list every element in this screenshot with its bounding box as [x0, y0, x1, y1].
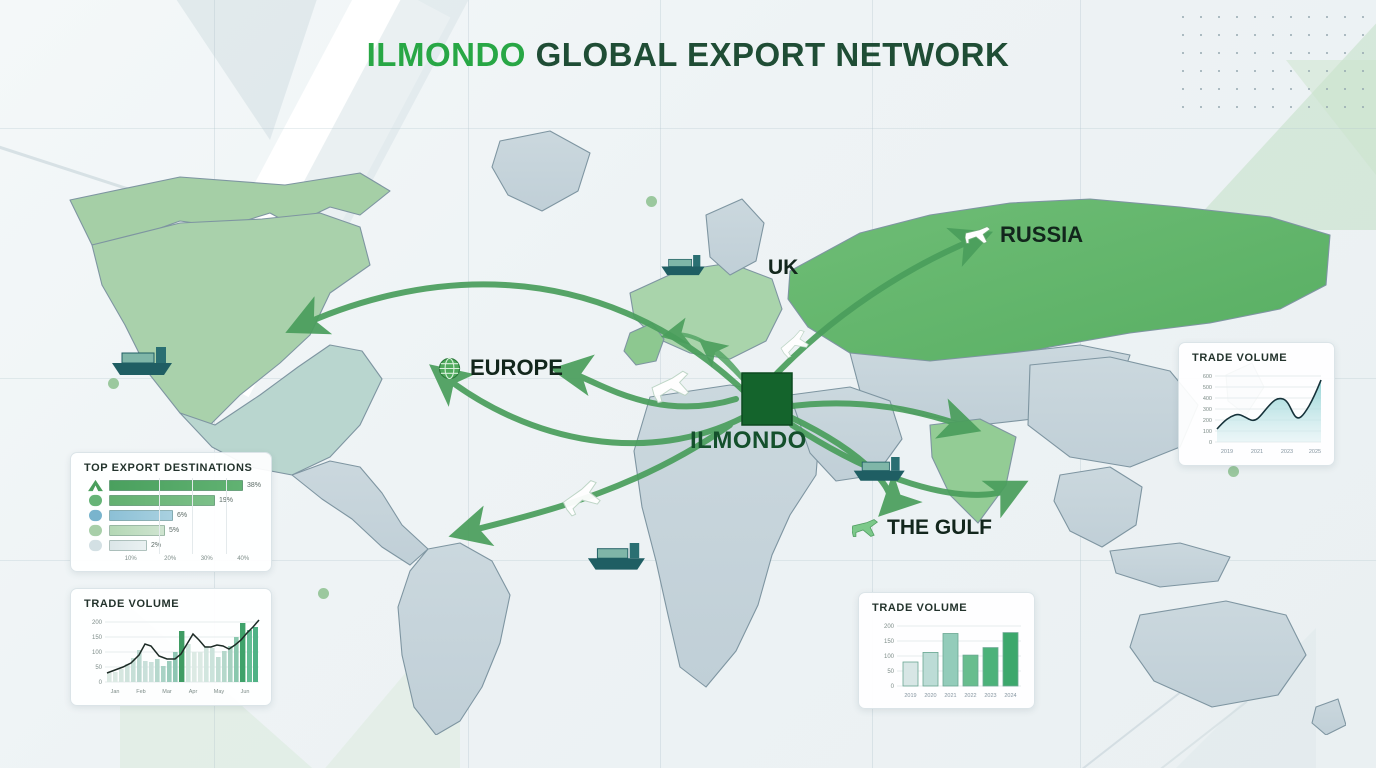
chart-trade-volume-area: 600 500 400 300 200 100 0 2019 2021 2023… [1191, 368, 1324, 460]
arrow-up-icon [87, 479, 104, 492]
landmass-china-east-asia [1028, 357, 1198, 467]
x-tick: Mar [162, 689, 172, 695]
y-tick: 200 [92, 620, 103, 626]
landmass-australia [1130, 601, 1306, 707]
chart-top-export-destinations: 38% 19% 6% [83, 478, 261, 562]
x-tick: 2020 [924, 693, 936, 699]
y-tick: 500 [1203, 385, 1212, 391]
x-tick: 2021 [944, 693, 956, 699]
title-rest: GLOBAL EXPORT NETWORK [526, 36, 1009, 73]
map-label-uk: UK [768, 256, 798, 280]
y-tick: 150 [884, 639, 895, 645]
ship-icon-north-sea [661, 255, 704, 275]
card-trade-volume-bottom-center: TRADE VOLUME 200 150 100 50 0 [858, 592, 1035, 709]
x-tick: 2021 [1251, 449, 1263, 455]
card-title: TRADE VOLUME [1179, 343, 1334, 368]
map-label-text: EUROPE [470, 355, 563, 381]
landmass-scandinavia [706, 199, 764, 275]
card-top-export-destinations: TOP EXPORT DESTINATIONS 38% [70, 452, 272, 572]
y-tick: 100 [884, 654, 895, 660]
map-label-text: UK [768, 256, 798, 280]
x-tick: 2019 [1221, 449, 1233, 455]
y-tick: 100 [1203, 429, 1212, 435]
x-tick: Jan [111, 689, 120, 695]
map-label-hub: ILMONDO [690, 427, 807, 455]
landmass-indonesia [1110, 543, 1230, 587]
ship-icon-south-atlantic [588, 543, 645, 570]
map-label-russia: RUSSIA [965, 222, 1083, 248]
landmass-mexico-central [292, 461, 428, 565]
x-tick: 40% [225, 556, 261, 562]
x-tick: Apr [189, 689, 198, 695]
plane-icon [965, 223, 991, 247]
landmass-south-america [398, 543, 510, 735]
x-tick: May [214, 689, 225, 695]
x-tick: Feb [136, 689, 145, 695]
y-tick: 100 [92, 650, 103, 656]
x-tick: Jun [241, 689, 250, 695]
x-axis-ticks: 10% 20% 30% 40% [109, 556, 261, 562]
map-label-text: THE GULF [887, 516, 992, 540]
y-tick: 0 [99, 680, 103, 686]
x-tick: 2019 [904, 693, 916, 699]
hub-label-text: ILMONDO [690, 427, 807, 455]
y-tick: 50 [887, 669, 894, 675]
brand-name: ILMONDO [367, 36, 526, 73]
map-label-the-gulf: THE GULF [852, 516, 992, 540]
y-tick: 0 [1209, 440, 1212, 446]
card-title: TRADE VOLUME [859, 593, 1034, 618]
card-title: TOP EXPORT DESTINATIONS [71, 453, 271, 478]
map-label-europe: EUROPE [438, 355, 563, 381]
y-tick: 150 [92, 635, 103, 641]
x-tick: 30% [188, 556, 226, 562]
pill-icon [87, 539, 104, 552]
x-tick: 2022 [964, 693, 976, 699]
card-trade-volume-top-right: TRADE VOLUME 600 500 [1178, 342, 1335, 466]
x-tick: 20% [152, 556, 188, 562]
card-title: TRADE VOLUME [71, 589, 271, 614]
page-title: ILMONDO GLOBAL EXPORT NETWORK [0, 36, 1376, 74]
plane-icon [852, 516, 878, 540]
y-tick: 0 [891, 684, 895, 690]
x-tick: 2023 [1281, 449, 1293, 455]
infographic-canvas: ILMONDO GLOBAL EXPORT NETWORK [0, 0, 1376, 768]
card-trade-volume-bottom-left: TRADE VOLUME 200 150 100 50 0 [70, 588, 272, 706]
map-label-text: RUSSIA [1000, 222, 1083, 248]
y-tick: 400 [1203, 396, 1212, 402]
y-tick: 50 [95, 665, 102, 671]
landmass-greenland [492, 131, 590, 211]
pill-icon [87, 509, 104, 522]
y-tick: 600 [1203, 374, 1212, 380]
y-tick: 300 [1203, 407, 1212, 413]
landmass-new-zealand [1312, 699, 1346, 735]
x-tick: 2023 [984, 693, 996, 699]
landmass-southeast-asia [1054, 467, 1142, 547]
y-tick: 200 [884, 624, 895, 630]
chart-trade-volume-yearly-bars: 200 150 100 50 0 2019 2020 2 [871, 618, 1024, 704]
hub-marker-egypt [742, 373, 792, 425]
pill-icon [87, 494, 104, 507]
y-tick: 200 [1203, 418, 1212, 424]
globe-icon [438, 357, 461, 380]
x-tick: 10% [109, 556, 152, 562]
chart-trade-volume-monthly: 200 150 100 50 0 [83, 614, 261, 698]
plane-icon-south-america [560, 479, 605, 517]
pill-icon [87, 524, 104, 537]
x-tick: 2024 [1004, 693, 1016, 699]
landmass-india-highlight [930, 419, 1016, 523]
x-tick: 2025 [1309, 449, 1321, 455]
